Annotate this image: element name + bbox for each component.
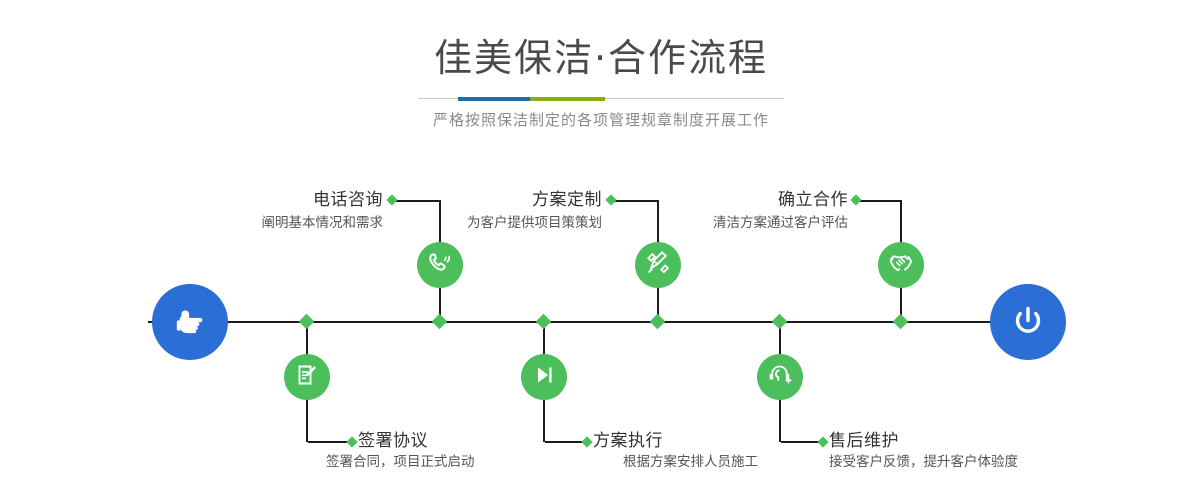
step-4-axis-marker	[536, 314, 552, 330]
step-4-node	[521, 354, 567, 400]
timeline: 电话咨询 阐明基本情况和需求 签署协议 签署合同，项目正式启动	[0, 0, 1202, 502]
phone-call-icon	[426, 249, 454, 281]
timeline-axis	[148, 321, 1054, 323]
step-5-title: 确立合作	[648, 189, 848, 211]
power-icon	[1006, 298, 1050, 346]
step-3-desc: 为客户提供项目策策划	[362, 214, 602, 233]
step-4-desc: 根据方案安排人员施工	[623, 453, 758, 472]
step-6-axis-marker	[772, 314, 788, 330]
step-2-desc: 签署合同，项目正式启动	[326, 453, 475, 472]
step-3-label-marker	[605, 194, 616, 205]
step-5-desc: 清洁方案通过客户评估	[608, 214, 848, 233]
document-edit-icon	[293, 361, 321, 393]
step-3-node	[635, 242, 681, 288]
step-6-desc: 接受客户反馈，提升客户体验度	[829, 453, 1018, 472]
step-2-label-marker	[346, 436, 357, 447]
step-5-label-marker	[850, 194, 861, 205]
cooperation-process-infographic: 佳美保洁·合作流程 严格按照保洁制定的各项管理规章制度开展工作	[0, 0, 1202, 502]
step-3-axis-marker	[650, 314, 666, 330]
step-5-axis-marker	[893, 314, 909, 330]
pencil-ruler-icon	[644, 249, 672, 281]
step-1-label-marker	[386, 194, 397, 205]
step-4-title: 方案执行	[593, 430, 663, 452]
step-6-title: 售后维护	[829, 430, 899, 452]
step-5-connector-horizontal	[856, 200, 902, 202]
step-1-desc: 阐明基本情况和需求	[143, 214, 383, 233]
step-2-axis-marker	[299, 314, 315, 330]
step-3-connector-horizontal	[611, 200, 659, 202]
step-2-node	[284, 354, 330, 400]
step-4-label-marker	[581, 436, 592, 447]
step-1-title: 电话咨询	[183, 189, 383, 211]
pointing-hand-icon	[168, 298, 212, 346]
play-forward-icon	[530, 361, 558, 393]
timeline-start-endpoint	[152, 284, 228, 360]
timeline-end-endpoint	[990, 284, 1066, 360]
step-1-connector-horizontal	[391, 200, 441, 202]
step-2-title: 签署协议	[358, 430, 428, 452]
step-1-axis-marker	[432, 314, 448, 330]
handshake-icon	[887, 249, 915, 281]
step-5-node	[878, 242, 924, 288]
step-1-node	[417, 242, 463, 288]
step-6-node	[757, 354, 803, 400]
step-6-label-marker	[817, 436, 828, 447]
headset-support-icon	[766, 361, 794, 393]
